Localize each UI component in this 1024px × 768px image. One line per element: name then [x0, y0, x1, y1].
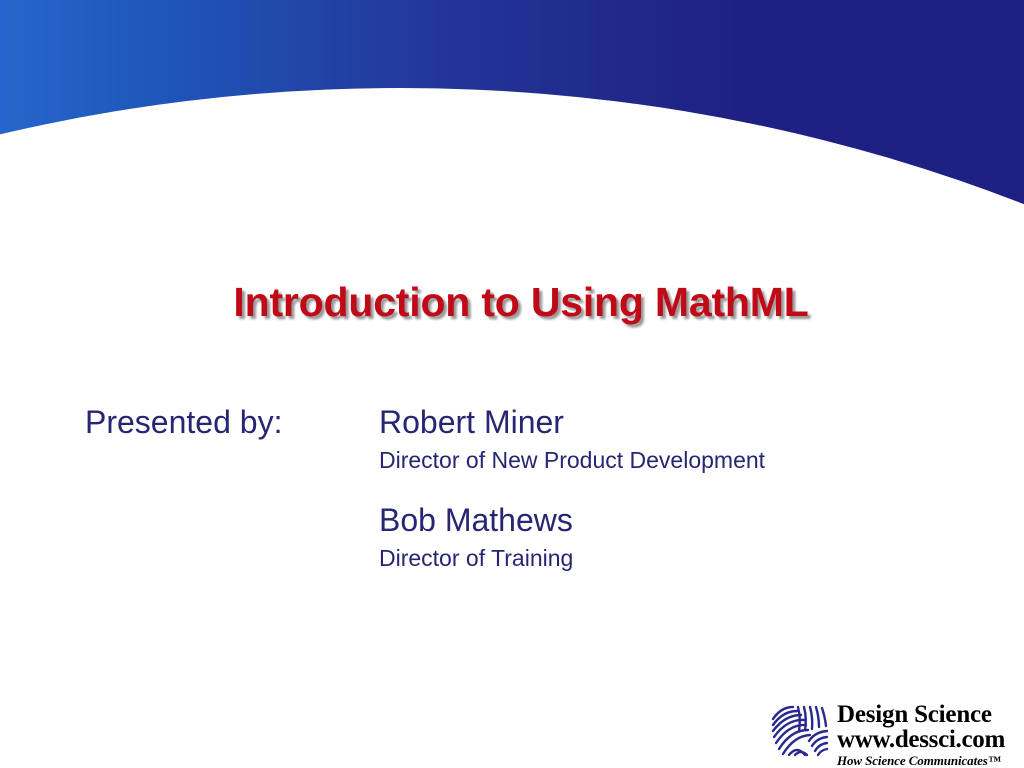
title-block: Introduction to Using MathML [0, 278, 1024, 326]
page-title: Introduction to Using MathML [215, 278, 808, 326]
design-science-logo: Design Science www.dessci.com How Scienc… [771, 702, 1017, 762]
presented-by-label: Presented by: [85, 400, 379, 444]
logo-text-block: Design Science www.dessci.com How Scienc… [837, 702, 1005, 768]
presenter-names: Robert Miner Director of New Product Dev… [379, 400, 985, 574]
presenter-row: Presented by: Robert Miner Director of N… [85, 400, 985, 574]
presenter-entry-1: Robert Miner Director of New Product Dev… [379, 400, 985, 476]
top-decorative-banner [0, 0, 1024, 215]
presenter-block: Presented by: Robert Miner Director of N… [85, 400, 985, 574]
design-science-wave-mark-icon [771, 705, 829, 757]
presenter-role: Director of Training [379, 542, 985, 574]
logo-tagline: How Science Communicates™ [837, 753, 1005, 768]
logo-company-name: Design Science [837, 702, 1005, 727]
presenter-name: Bob Mathews [379, 498, 985, 542]
presenter-name: Robert Miner [379, 400, 985, 444]
banner-graphic [0, 0, 1024, 215]
presentation-slide: Introduction to Using MathML Presented b… [0, 0, 1024, 768]
presenter-entry-2: Bob Mathews Director of Training [379, 498, 985, 574]
logo-website-url: www.dessci.com [837, 727, 1005, 753]
presenter-role: Director of New Product Development [379, 444, 985, 476]
